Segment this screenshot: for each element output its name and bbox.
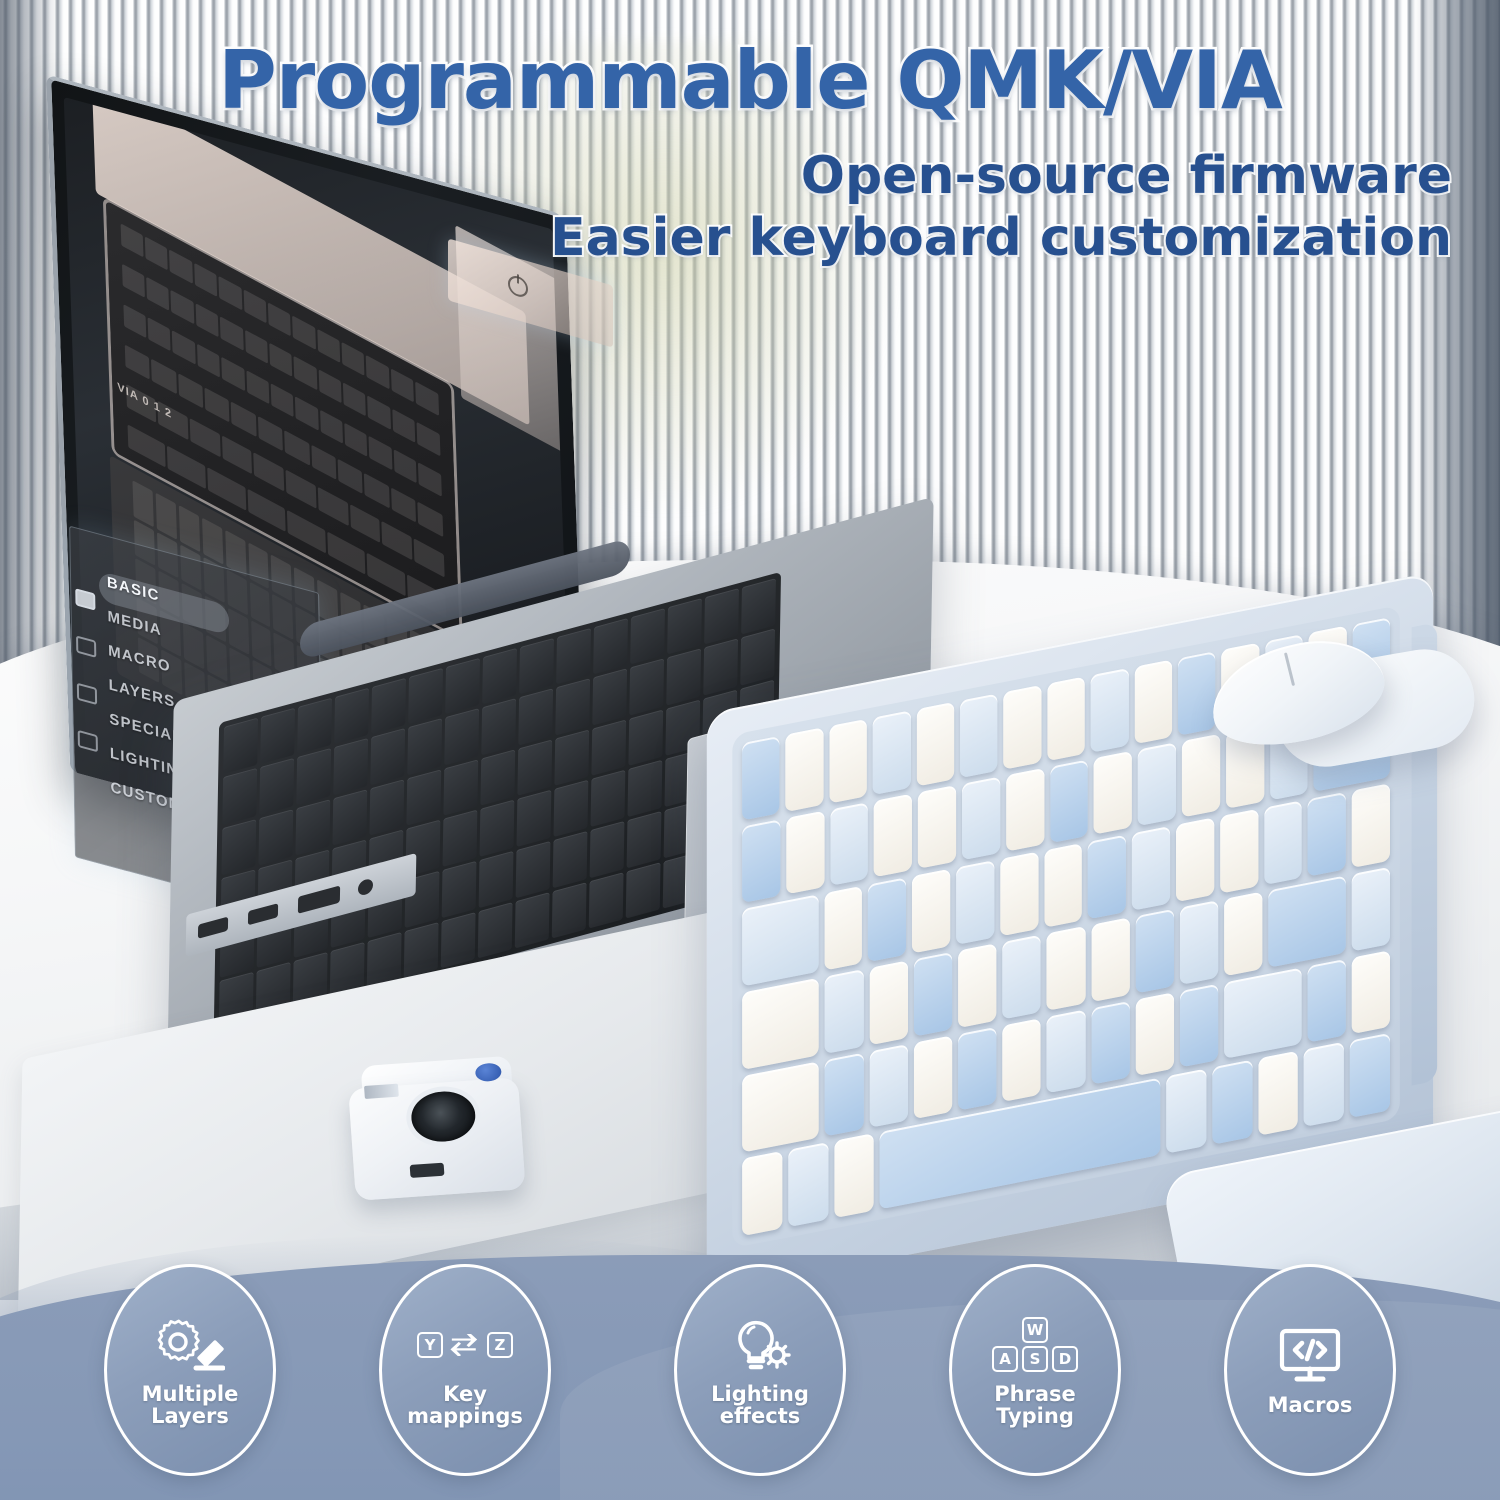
page-title: Programmable QMK/VIA <box>0 34 1500 127</box>
wasd-keys-icon: W A S D <box>992 1313 1078 1377</box>
keycap-a: A <box>992 1346 1018 1372</box>
bulb-gear-icon <box>727 1313 793 1377</box>
feature-label: Phrase Typing <box>994 1383 1076 1428</box>
layers-icon <box>78 730 98 752</box>
via-menu-item-basic[interactable]: BASIC <box>107 575 189 612</box>
mini-camera <box>347 1053 558 1227</box>
feature-label: Macros <box>1268 1394 1353 1416</box>
via-menu-icon-column <box>75 588 98 782</box>
audio-jack-icon <box>358 878 373 897</box>
camera-usb-port-icon <box>410 1163 445 1178</box>
usb-c-port-2-icon <box>248 903 278 925</box>
usb-c-port-icon <box>198 917 228 939</box>
feature-label-line1: Phrase <box>994 1382 1076 1406</box>
via-menu-item-media[interactable]: MEDIA <box>107 609 189 646</box>
feature-lighting-effects[interactable]: Lighting effects <box>674 1264 846 1476</box>
feature-key-mappings[interactable]: Y Z Key mappings <box>379 1264 551 1476</box>
media-icon <box>76 635 96 657</box>
camera-viewfinder <box>364 1084 399 1099</box>
feature-label: Lighting effects <box>711 1383 809 1428</box>
gear-pencil-icon <box>155 1313 225 1377</box>
keycap-d: D <box>1052 1346 1078 1372</box>
keycap-from: Y <box>417 1332 443 1358</box>
feature-label-line2: Layers <box>151 1404 229 1428</box>
feature-label-line2: effects <box>720 1404 800 1428</box>
macro-icon <box>77 683 97 705</box>
keycap-to: Z <box>487 1332 513 1358</box>
feature-label-line1: Multiple <box>142 1382 239 1406</box>
product-banner: VIA 0 1 2 <box>0 0 1500 1500</box>
feature-label: Multiple Layers <box>142 1383 239 1428</box>
feature-multiple-layers[interactable]: Multiple Layers <box>104 1264 276 1476</box>
feature-label: Key mappings <box>407 1383 523 1428</box>
keycap-s: S <box>1022 1346 1048 1372</box>
power-icon <box>508 274 528 300</box>
feature-macros[interactable]: Macros <box>1224 1264 1396 1476</box>
subtitle-line-1: Open-source firmware <box>801 146 1452 206</box>
subtitle-line-2: Easier keyboard customization <box>550 208 1452 268</box>
key-swap-icon: Y Z <box>417 1313 513 1377</box>
code-monitor-icon <box>1276 1324 1344 1388</box>
feature-label-line1: Lighting <box>711 1382 809 1406</box>
hdmi-port-icon <box>298 885 340 913</box>
keycap-w: W <box>1022 1317 1048 1343</box>
feature-phrase-typing[interactable]: W A S D Phrase Typing <box>949 1264 1121 1476</box>
feature-label-line2: Typing <box>996 1404 1074 1428</box>
keyboard-icon <box>75 588 95 610</box>
feature-label-line2: mappings <box>407 1404 523 1428</box>
feature-label-line1: Macros <box>1268 1393 1353 1417</box>
feature-label-line1: Key <box>443 1382 487 1406</box>
via-menu-item-macro[interactable]: MACRO <box>108 643 190 680</box>
swap-arrows-icon <box>450 1334 480 1356</box>
feature-badges: Multiple Layers Y Z Key mappings <box>0 1264 1500 1500</box>
